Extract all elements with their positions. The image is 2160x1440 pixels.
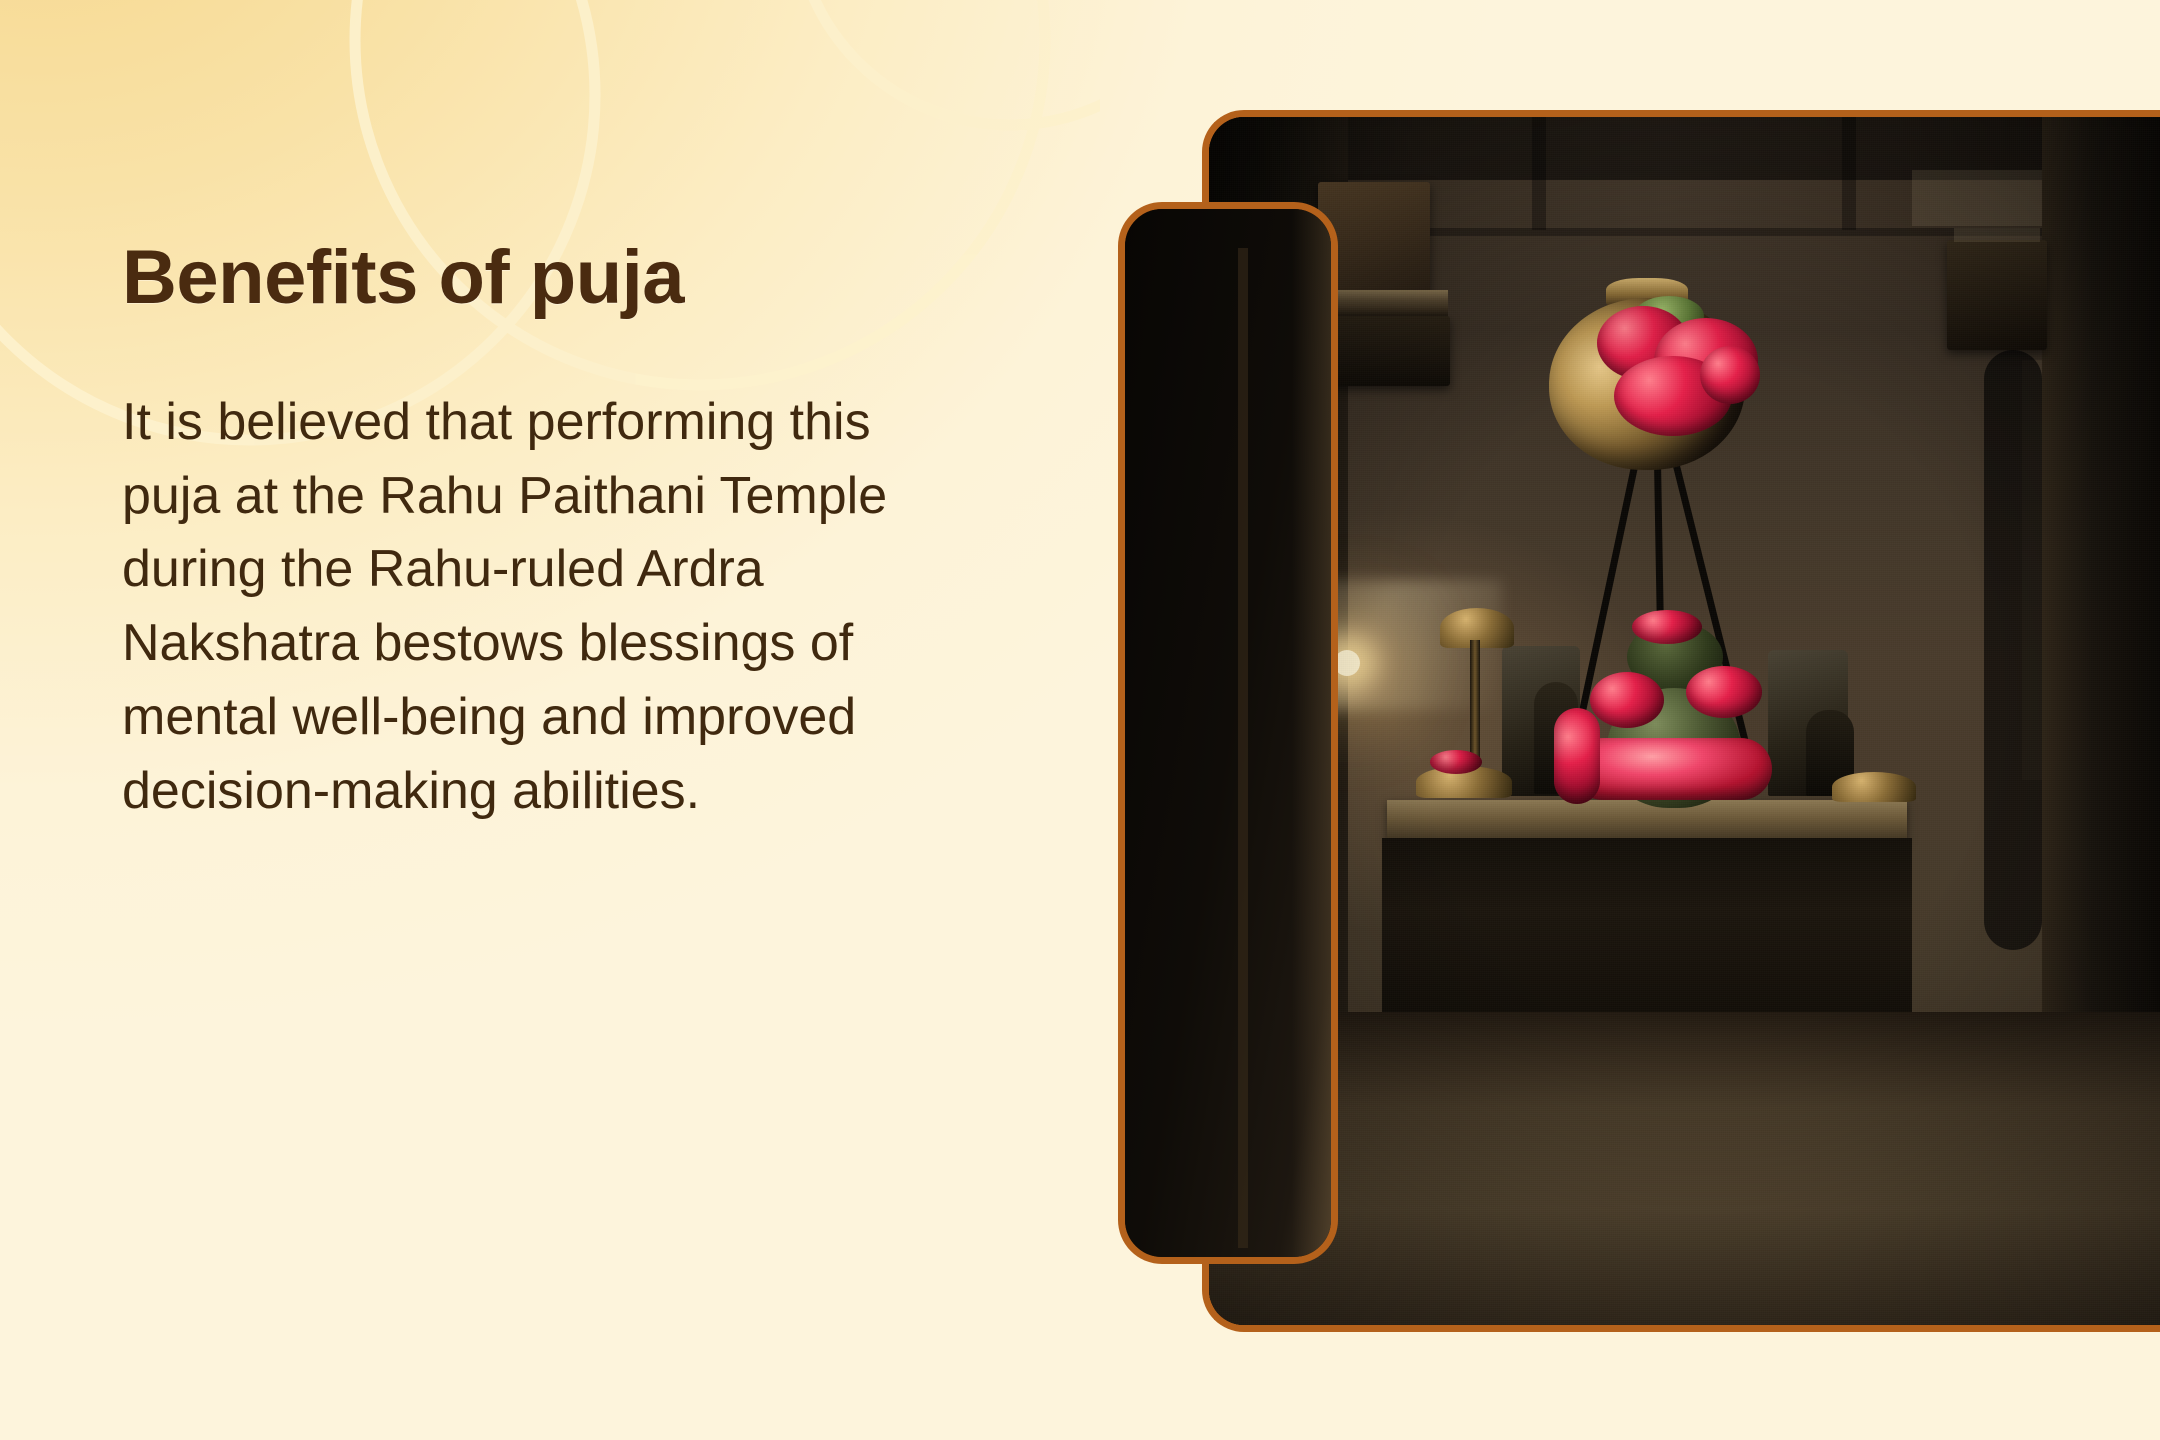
temple-floor [1202, 1012, 2160, 1332]
offering-flower-left [1430, 750, 1482, 774]
temple-photo-frame [1118, 110, 2160, 1332]
temple-photo-offset-panel [1118, 202, 1338, 1264]
right-pillar-shadow [1984, 350, 2042, 950]
offset-panel-edge [1238, 248, 1248, 1248]
temple-photo-main-panel [1202, 110, 2160, 1332]
offset-panel-highlight [1292, 202, 1338, 1264]
altar-platform-body [1382, 838, 1912, 1024]
lingam-flower-garland [1632, 610, 1702, 644]
wall-niche-right [1947, 240, 2047, 350]
deco-circle-small [795, 0, 1100, 125]
wall-seam [1842, 110, 1856, 230]
offset-panel-scene [1118, 202, 1338, 1264]
temple-sanctum-scene [1202, 110, 2160, 1332]
text-column: Benefits of puja It is believed that per… [122, 238, 1002, 829]
wall-seam [1532, 110, 1546, 230]
lingam-flower-garland [1686, 666, 1762, 718]
kalash-flower-garland [1700, 346, 1760, 404]
niche-highlight [1954, 228, 2040, 242]
lingam-flower-drape [1554, 708, 1600, 804]
lingam-flower-garland [1590, 672, 1664, 728]
altar-platform-top [1387, 800, 1907, 842]
brass-lamp-plate-right [1832, 772, 1916, 802]
body-paragraph: It is believed that performing this puja… [122, 386, 982, 829]
page-title: Benefits of puja [122, 238, 1002, 318]
lingam-flower-pile [1572, 738, 1772, 800]
